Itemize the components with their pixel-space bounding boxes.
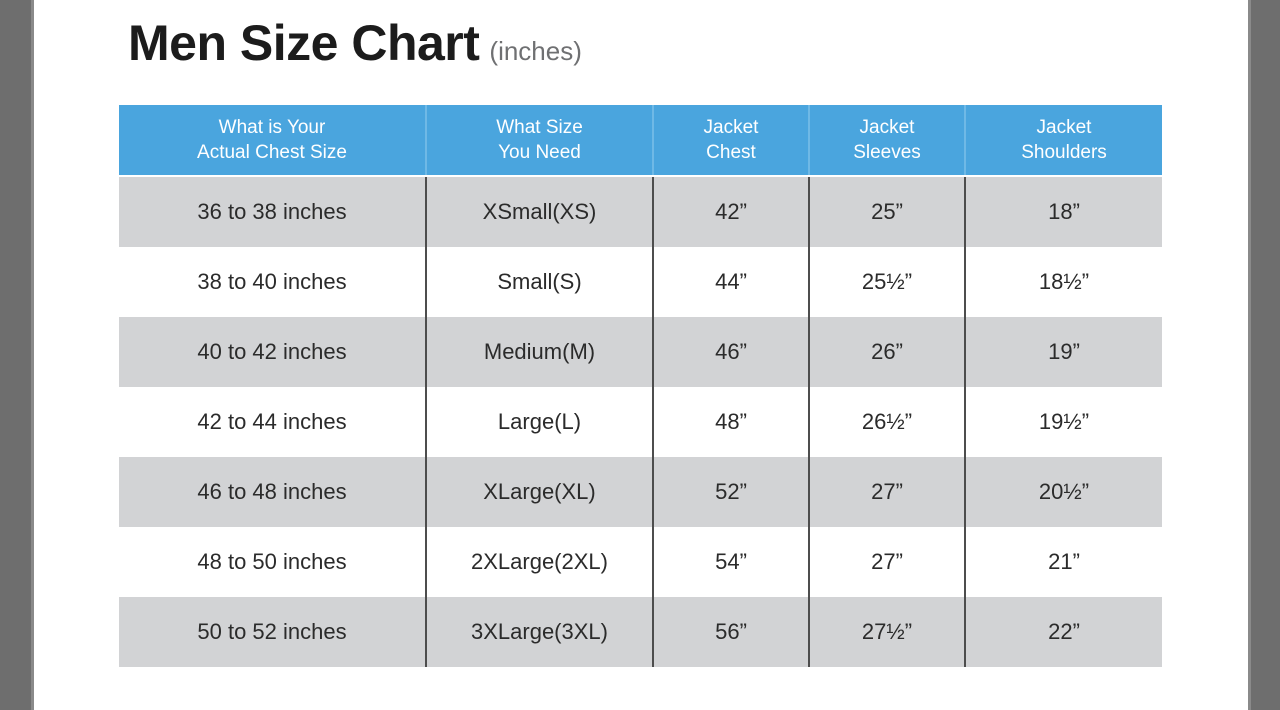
cell-value: Large(L) [498, 409, 581, 435]
cell-jacket-sleeves: 27” [809, 457, 965, 527]
cell-value: XSmall(XS) [483, 199, 597, 225]
cell-jacket-chest: 46” [653, 317, 809, 387]
cell-actual-chest-size: 48 to 50 inches [119, 527, 426, 597]
table-row: 40 to 42 inches Medium(M) 46” 26” 19” [119, 317, 1162, 387]
page-title-unit: (inches) [489, 38, 581, 64]
cell-value: XLarge(XL) [483, 479, 596, 505]
column-header-line-1: Jacket [814, 115, 960, 140]
cell-value: 26½” [862, 409, 912, 435]
cell-value: 48 to 50 inches [197, 549, 346, 575]
left-frame-bar-edge [31, 0, 34, 710]
cell-value: 18½” [1039, 269, 1089, 295]
cell-actual-chest-size: 46 to 48 inches [119, 457, 426, 527]
cell-value: 54” [715, 549, 747, 575]
cell-jacket-sleeves: 26½” [809, 387, 965, 457]
table-row: 50 to 52 inches 3XLarge(3XL) 56” 27½” 22… [119, 597, 1162, 667]
cell-jacket-shoulders: 21” [965, 527, 1162, 597]
column-header-jacket-sleeves: Jacket Sleeves [809, 105, 965, 176]
table-body: 36 to 38 inches XSmall(XS) 42” 25” 18” 3… [119, 176, 1162, 667]
cell-value: 46” [715, 339, 747, 365]
cell-value: 26” [871, 339, 903, 365]
cell-jacket-chest: 56” [653, 597, 809, 667]
cell-jacket-chest: 44” [653, 247, 809, 317]
cell-size-you-need: 3XLarge(3XL) [426, 597, 653, 667]
cell-jacket-shoulders: 19” [965, 317, 1162, 387]
cell-jacket-sleeves: 25½” [809, 247, 965, 317]
cell-actual-chest-size: 40 to 42 inches [119, 317, 426, 387]
cell-value: 25” [871, 199, 903, 225]
page-title: Men Size Chart (inches) [128, 18, 582, 68]
cell-value: 44” [715, 269, 747, 295]
cell-actual-chest-size: 42 to 44 inches [119, 387, 426, 457]
right-frame-bar-edge [1248, 0, 1251, 710]
cell-jacket-chest: 42” [653, 176, 809, 247]
cell-value: 19½” [1039, 409, 1089, 435]
cell-value: 22” [1048, 619, 1080, 645]
column-header-line-1: What Size [431, 115, 648, 140]
column-header-line-2: Sleeves [814, 140, 960, 165]
cell-value: 21” [1048, 549, 1080, 575]
cell-jacket-chest: 48” [653, 387, 809, 457]
table-row: 42 to 44 inches Large(L) 48” 26½” 19½” [119, 387, 1162, 457]
cell-size-you-need: Medium(M) [426, 317, 653, 387]
cell-actual-chest-size: 50 to 52 inches [119, 597, 426, 667]
cell-size-you-need: Large(L) [426, 387, 653, 457]
cell-jacket-sleeves: 25” [809, 176, 965, 247]
slide-canvas: Men Size Chart (inches) What is Your Act… [34, 0, 1248, 710]
table-header-row: What is Your Actual Chest Size What Size… [119, 105, 1162, 176]
cell-value: Medium(M) [484, 339, 595, 365]
column-header-line-2: Chest [658, 140, 804, 165]
page-title-main: Men Size Chart [128, 18, 479, 68]
cell-value: 27” [871, 549, 903, 575]
cell-jacket-sleeves: 27½” [809, 597, 965, 667]
cell-jacket-sleeves: 27” [809, 527, 965, 597]
table-row: 38 to 40 inches Small(S) 44” 25½” 18½” [119, 247, 1162, 317]
column-header-line-1: Jacket [658, 115, 804, 140]
column-header-line-1: What is Your [123, 115, 421, 140]
cell-jacket-shoulders: 22” [965, 597, 1162, 667]
cell-jacket-shoulders: 20½” [965, 457, 1162, 527]
cell-value: 18” [1048, 199, 1080, 225]
column-header-line-2: Shoulders [970, 140, 1158, 165]
cell-jacket-sleeves: 26” [809, 317, 965, 387]
cell-value: 19” [1048, 339, 1080, 365]
cell-value: 50 to 52 inches [197, 619, 346, 645]
table-row: 46 to 48 inches XLarge(XL) 52” 27” 20½” [119, 457, 1162, 527]
cell-value: Small(S) [497, 269, 581, 295]
cell-value: 48” [715, 409, 747, 435]
cell-size-you-need: 2XLarge(2XL) [426, 527, 653, 597]
cell-size-you-need: Small(S) [426, 247, 653, 317]
table-row: 36 to 38 inches XSmall(XS) 42” 25” 18” [119, 176, 1162, 247]
cell-value: 3XLarge(3XL) [471, 619, 608, 645]
cell-value: 36 to 38 inches [197, 199, 346, 225]
cell-value: 42 to 44 inches [197, 409, 346, 435]
cell-value: 40 to 42 inches [197, 339, 346, 365]
cell-jacket-chest: 54” [653, 527, 809, 597]
cell-jacket-shoulders: 18” [965, 176, 1162, 247]
size-chart-table: What is Your Actual Chest Size What Size… [119, 105, 1162, 667]
cell-value: 2XLarge(2XL) [471, 549, 608, 575]
column-header-line-2: Actual Chest Size [123, 140, 421, 165]
cell-jacket-shoulders: 19½” [965, 387, 1162, 457]
cell-value: 42” [715, 199, 747, 225]
cell-size-you-need: XLarge(XL) [426, 457, 653, 527]
cell-value: 56” [715, 619, 747, 645]
column-header-jacket-shoulders: Jacket Shoulders [965, 105, 1162, 176]
cell-value: 52” [715, 479, 747, 505]
cell-size-you-need: XSmall(XS) [426, 176, 653, 247]
cell-value: 25½” [862, 269, 912, 295]
column-header-jacket-chest: Jacket Chest [653, 105, 809, 176]
cell-jacket-shoulders: 18½” [965, 247, 1162, 317]
cell-value: 27” [871, 479, 903, 505]
cell-value: 46 to 48 inches [197, 479, 346, 505]
left-frame-bar [0, 0, 34, 710]
column-header-actual-chest-size: What is Your Actual Chest Size [119, 105, 426, 176]
table-header: What is Your Actual Chest Size What Size… [119, 105, 1162, 176]
cell-actual-chest-size: 38 to 40 inches [119, 247, 426, 317]
column-header-line-1: Jacket [970, 115, 1158, 140]
cell-value: 38 to 40 inches [197, 269, 346, 295]
cell-value: 27½” [862, 619, 912, 645]
table-row: 48 to 50 inches 2XLarge(2XL) 54” 27” 21” [119, 527, 1162, 597]
cell-jacket-chest: 52” [653, 457, 809, 527]
cell-value: 20½” [1039, 479, 1089, 505]
column-header-line-2: You Need [431, 140, 648, 165]
column-header-size-you-need: What Size You Need [426, 105, 653, 176]
right-frame-bar [1248, 0, 1280, 710]
cell-actual-chest-size: 36 to 38 inches [119, 176, 426, 247]
